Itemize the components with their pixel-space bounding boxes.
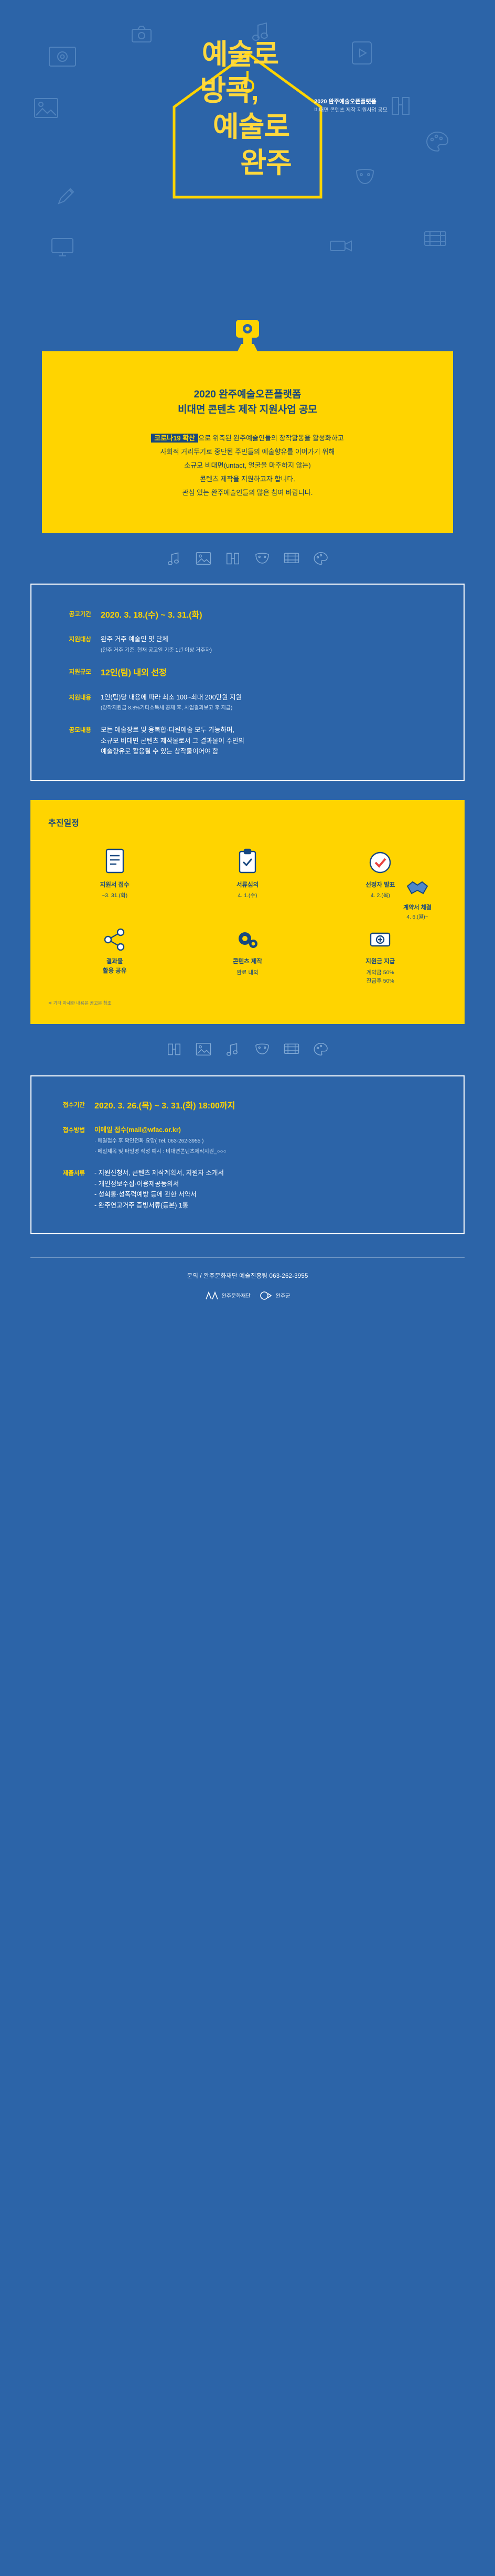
notice-target-value: 완주 거주 예술인 및 단체 bbox=[101, 635, 168, 643]
apply-value: 2020. 3. 26.(목) ~ 3. 31.(화) 18:00까지 bbox=[94, 1100, 235, 1113]
building-icon bbox=[166, 1042, 182, 1057]
notice-value: 12인(팀) 내외 선정 bbox=[101, 666, 167, 680]
notice-value: 1인(팀)당 내용에 따라 최소 100~최대 200만원 지원 (창작지원금 … bbox=[101, 692, 242, 713]
intro-body-line-4: 콘텐츠 제작을 지원하고자 합니다. bbox=[200, 475, 295, 483]
palette-icon bbox=[313, 551, 329, 566]
notice-content-line-1: 모든 예술장르 및 융복합·다원예술 모두 가능하며, bbox=[101, 726, 234, 734]
apply-label: 접수기간 bbox=[50, 1100, 94, 1109]
hero-title-line-1: 예술로 bbox=[0, 37, 495, 73]
notice-value: 모든 예술장르 및 융복합·다원예술 모두 가능하며, 소규모 비대면 콘텐츠 … bbox=[101, 725, 244, 757]
notice-label: 공고기간 bbox=[52, 609, 101, 618]
notice-scale-value: 12인(팀) 내외 선정 bbox=[101, 669, 167, 677]
notice-period-value: 2020. 3. 18.(수) ~ 3. 31.(화) bbox=[101, 611, 202, 620]
apply-doc-item: - 개인정보수집·이용제공동의서 bbox=[94, 1179, 224, 1190]
notice-section: 공고기간 2020. 3. 18.(수) ~ 3. 31.(화) 지원대상 완주… bbox=[30, 584, 465, 781]
logo-wanju-county: 완주군 bbox=[259, 1290, 290, 1301]
intro-body-line-1: 으로 위축된 완주예술인들의 창작활동을 활성화하고 bbox=[198, 434, 344, 442]
apply-label: 제출서류 bbox=[50, 1168, 94, 1177]
intro-body-line-2: 사회적 거리두기로 중단된 주민들의 예술향유를 이어가기 위해 bbox=[160, 448, 335, 456]
poster-page: 예술로 방콕, 예술로 완주 2020 완주예술오픈플랫폼 비대면 콘텐츠 제작… bbox=[0, 0, 495, 1333]
notice-target-sub: (완주 거주 기준: 현재 공고일 기준 1년 이상 거주자) bbox=[101, 646, 212, 655]
schedule-step-4: 지원금 지급 계약금 50%잔금후 50% bbox=[314, 919, 447, 986]
footer-logos: 완주문화재단 완주군 bbox=[30, 1290, 465, 1301]
schedule-step-5: 콘텐츠 제작 완료 내외 bbox=[181, 919, 314, 986]
apply-section: 접수기간 2020. 3. 26.(목) ~ 3. 31.(화) 18:00까지… bbox=[30, 1075, 465, 1234]
schedule-panel: 추진일정 지원서 접수 ~3. 31.(화) bbox=[30, 800, 465, 1024]
notice-support-value: 1인(팀)당 내용에 따라 최소 100~최대 200만원 지원 bbox=[101, 694, 242, 701]
notice-content-line-3: 예술향유로 활용될 수 있는 창작물이어야 함 bbox=[101, 748, 218, 755]
notice-row-target: 지원대상 완주 거주 예술인 및 단체 (완주 거주 기준: 현재 공고일 기준… bbox=[52, 634, 443, 655]
foundation-logo-icon bbox=[205, 1290, 219, 1301]
footer: 문의 / 완주문화재단 예술진흥팀 063-262-3955 완주문화재단 완주… bbox=[30, 1257, 465, 1320]
apply-doc-item: - 완주연고거주 증빙서류(등본) 1통 bbox=[94, 1200, 224, 1211]
notice-row-support: 지원내용 1인(팀)당 내용에 따라 최소 100~최대 200만원 지원 (창… bbox=[52, 692, 443, 713]
music-note-icon bbox=[225, 1042, 241, 1057]
icon-strip-apply bbox=[0, 1042, 495, 1057]
notice-label: 지원규모 bbox=[52, 666, 101, 676]
intro-body: 코로나19 확산으로 위축된 완주예술인들의 창작활동을 활성화하고 사회적 거… bbox=[63, 432, 432, 500]
mask-icon bbox=[254, 1042, 270, 1057]
hero-subtitle-line-2: 비대면 콘텐츠 제작 지원사업 공모 bbox=[314, 106, 388, 114]
apply-value: - 지원신청서, 콘텐츠 제작계획서, 지원자 소개서 - 개인정보수집·이용제… bbox=[94, 1168, 224, 1211]
notice-row-scale: 지원규모 12인(팀) 내외 선정 bbox=[52, 666, 443, 680]
hero-subtitle-line-1: 2020 완주예술오픈플랫폼 bbox=[314, 98, 388, 106]
apply-row-method: 접수방법 이메일 접수(mail@wfac.or.kr) · 메일접수 후 확인… bbox=[50, 1125, 445, 1156]
schedule-note: ※ 기타 자세한 내용은 공고문 참조 bbox=[48, 1000, 447, 1006]
contract-title: 계약서 체결 bbox=[386, 903, 449, 911]
apply-row-documents: 제출서류 - 지원신청서, 콘텐츠 제작계획서, 지원자 소개서 - 개인정보수… bbox=[50, 1168, 445, 1211]
intro-heading: 2020 완주예술오픈플랫폼 비대면 콘텐츠 제작 지원사업 공모 bbox=[63, 387, 432, 418]
music-note-icon bbox=[166, 551, 182, 566]
film-strip-icon bbox=[284, 1042, 299, 1057]
palette-icon bbox=[313, 1042, 329, 1057]
schedule-flow-bottom: 결과물활용 공유 콘텐츠 제작 완료 내외 bbox=[48, 919, 447, 986]
logo-wanju-county-label: 완주군 bbox=[276, 1291, 290, 1299]
county-logo-icon bbox=[259, 1290, 273, 1301]
camera-icon bbox=[225, 316, 270, 355]
display-icon bbox=[50, 237, 74, 258]
hero-title-line-4: 완주 bbox=[37, 145, 495, 181]
intro-panel: 2020 완주예술오픈플랫폼 비대면 콘텐츠 제작 지원사업 공모 코로나19 … bbox=[42, 351, 453, 533]
notice-label: 지원대상 bbox=[52, 634, 101, 643]
schedule-step-title: 결과물활용 공유 bbox=[50, 957, 179, 976]
apply-row-period: 접수기간 2020. 3. 26.(목) ~ 3. 31.(화) 18:00까지 bbox=[50, 1100, 445, 1113]
apply-doc-item: - 지원신청서, 콘텐츠 제작계획서, 지원자 소개서 bbox=[94, 1168, 224, 1179]
apply-method-sub-2: · 메일제목 및 파일명 작성 예시 : 비대면콘텐츠제작지원_○○○ bbox=[94, 1148, 227, 1157]
film-strip-icon bbox=[424, 230, 447, 247]
notice-label: 지원내용 bbox=[52, 692, 101, 702]
movie-camera-icon bbox=[329, 237, 353, 254]
schedule-step-date: 계약금 50%잔금후 50% bbox=[316, 968, 445, 986]
intro-highlight: 코로나19 확산 bbox=[151, 434, 198, 443]
notice-row-period: 공고기간 2020. 3. 18.(수) ~ 3. 31.(화) bbox=[52, 609, 443, 622]
apply-period-value: 2020. 3. 26.(목) ~ 3. 31.(화) 18:00까지 bbox=[94, 1102, 235, 1111]
notice-value: 완주 거주 예술인 및 단체 (완주 거주 기준: 현재 공고일 기준 1년 이… bbox=[101, 634, 212, 655]
mask-icon bbox=[254, 551, 270, 566]
intro-body-line-5: 관심 있는 완주예술인들의 많은 참여 바랍니다. bbox=[182, 489, 313, 497]
schedule-heading: 추진일정 bbox=[48, 816, 447, 828]
logo-wanju-foundation-label: 완주문화재단 bbox=[222, 1291, 251, 1299]
money-icon bbox=[316, 922, 445, 952]
schedule-contract: 계약서 체결 4. 6.(월)~ bbox=[386, 879, 449, 920]
intro-heading-line-1: 2020 완주예술오픈플랫폼 bbox=[194, 389, 302, 400]
share-icon bbox=[50, 922, 179, 952]
film-strip-icon bbox=[284, 551, 299, 566]
gears-icon bbox=[183, 922, 311, 952]
handshake-icon bbox=[386, 879, 449, 900]
notice-row-content: 공모내용 모든 예술장르 및 융복합·다원예술 모두 가능하며, 소규모 비대면… bbox=[52, 725, 443, 757]
notice-support-sub: (창작지원금 8.8%기타소득세 공제 후, 사업결과보고 후 지급) bbox=[101, 704, 242, 713]
schedule-step-6: 결과물활용 공유 bbox=[48, 919, 181, 986]
apply-label: 접수방법 bbox=[50, 1125, 94, 1134]
footer-contact: 문의 / 완주문화재단 예술진흥팀 063-262-3955 bbox=[30, 1271, 465, 1280]
notice-value: 2020. 3. 18.(수) ~ 3. 31.(화) bbox=[101, 609, 202, 622]
apply-method-sub-1: · 메일접수 후 확인전화 요망( Tel. 063-262-3955 ) bbox=[94, 1137, 227, 1146]
apply-method-value[interactable]: 이메일 접수(mail@wfac.or.kr) bbox=[94, 1126, 181, 1134]
intro-heading-line-2: 비대면 콘텐츠 제작 지원사업 공모 bbox=[178, 404, 317, 415]
schedule-step-title: 지원금 지급 bbox=[316, 957, 445, 966]
contract-date: 4. 6.(월)~ bbox=[386, 912, 449, 920]
hero-title-line-2: 방콕, bbox=[0, 73, 495, 109]
building-icon bbox=[225, 551, 241, 566]
hero-title-line-3: 예술로 bbox=[7, 109, 495, 145]
apply-value: 이메일 접수(mail@wfac.or.kr) · 메일접수 후 확인전화 요망… bbox=[94, 1125, 227, 1156]
notice-content-line-2: 소규모 비대면 콘텐츠 제작물로서 그 결과물이 주민의 bbox=[101, 737, 244, 745]
notice-label: 공모내용 bbox=[52, 725, 101, 734]
hero-section: 예술로 방콕, 예술로 완주 2020 완주예술오픈플랫폼 비대면 콘텐츠 제작… bbox=[0, 0, 495, 336]
art-tools-icon bbox=[56, 185, 78, 207]
icon-strip-notice bbox=[0, 551, 495, 566]
apply-doc-item: - 성희롱·성폭력예방 등에 관한 서약서 bbox=[94, 1189, 224, 1200]
picture-icon bbox=[196, 551, 211, 566]
intro-body-line-3: 소규모 비대면(untact, 얼굴을 마주하지 않는) bbox=[184, 461, 311, 469]
hero-subtitle: 2020 완주예술오픈플랫폼 비대면 콘텐츠 제작 지원사업 공모 bbox=[314, 98, 388, 114]
logo-wanju-foundation: 완주문화재단 bbox=[205, 1290, 251, 1301]
schedule-step-date: 완료 내외 bbox=[183, 968, 311, 977]
schedule-step-title: 콘텐츠 제작 bbox=[183, 957, 311, 966]
picture-icon bbox=[196, 1042, 211, 1057]
hero-title: 예술로 방콕, 예술로 완주 bbox=[0, 37, 495, 181]
